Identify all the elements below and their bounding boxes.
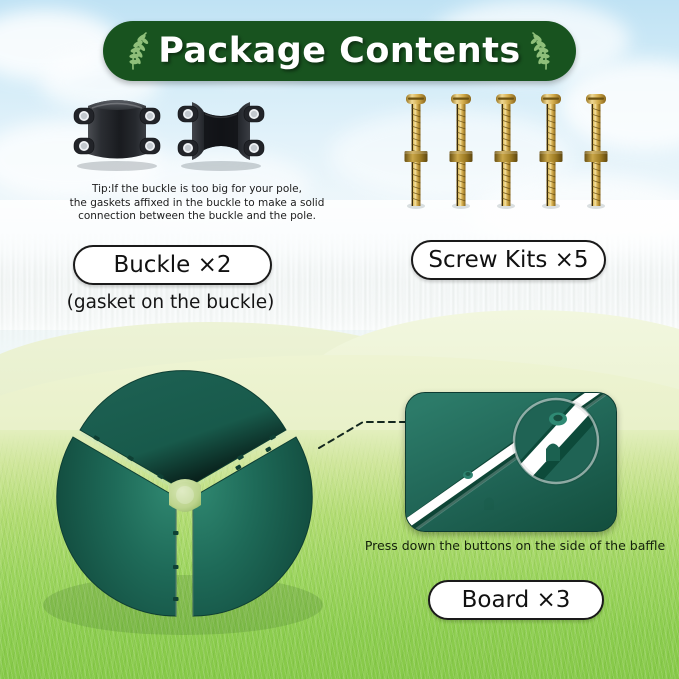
- tip-line-3: connection between the buckle and the po…: [52, 210, 342, 224]
- screw-unit: [495, 94, 518, 209]
- buckle-half-inner: [174, 92, 269, 172]
- buckle-tip-text: Tip:If the buckle is too big for your po…: [52, 183, 342, 224]
- tip-line-2: the gaskets affixed in the buckle to mak…: [52, 197, 342, 211]
- board-fan-assembly: [33, 345, 343, 645]
- screw-kit-product-photo: [404, 88, 609, 213]
- infographic-canvas: Package Contents: [0, 0, 679, 679]
- laurel-branch-icon: [126, 31, 152, 71]
- laurel-branch-icon: [527, 31, 553, 71]
- screw-unit: [405, 94, 428, 209]
- screw-unit: [540, 94, 563, 209]
- buckle-product-photo: [62, 92, 277, 177]
- screw-row: [404, 88, 609, 213]
- baffle-closeup: [406, 393, 616, 531]
- buckle-label: Buckle ×2: [113, 252, 231, 278]
- tip-line-1: Tip:If the buckle is too big for your po…: [52, 183, 342, 197]
- board-label: Board ×3: [462, 587, 571, 613]
- screw-unit: [585, 94, 608, 209]
- buckle-label-pill: Buckle ×2: [73, 245, 272, 285]
- buckle-subnote: (gasket on the buckle): [48, 292, 293, 313]
- board-wedges: [33, 345, 343, 645]
- buckle-half-outer: [70, 92, 165, 172]
- board-center-hub: [169, 479, 201, 512]
- page-title: Package Contents: [158, 31, 521, 71]
- detail-caption: Press down the buttons on the side of th…: [360, 538, 670, 553]
- baffle-detail-panel: [405, 392, 617, 532]
- screw-unit: [450, 94, 473, 209]
- screw-label: Screw Kits ×5: [428, 247, 588, 273]
- board-label-pill: Board ×3: [428, 580, 604, 620]
- page-title-banner: Package Contents: [103, 21, 576, 81]
- screw-label-pill: Screw Kits ×5: [411, 240, 606, 280]
